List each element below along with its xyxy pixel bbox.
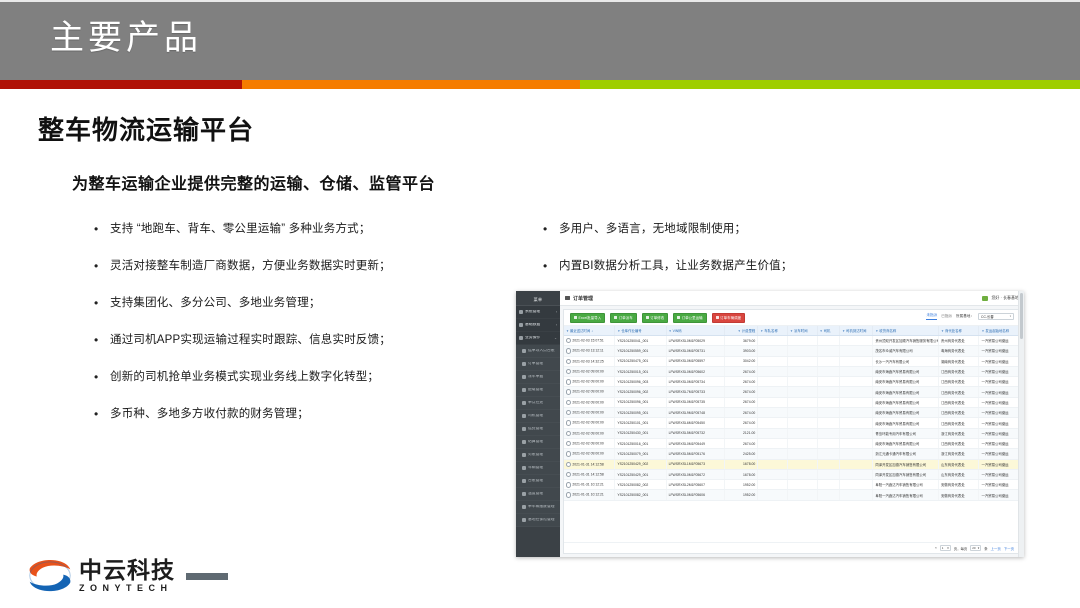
bullet-marker: • [94,333,110,348]
row-radio[interactable] [566,451,571,456]
cell-job: YS2101250082_002 [615,480,666,490]
cell-agent: 湖南商务代表处 [938,356,978,366]
cell-dispatch [787,490,817,500]
cell-arrive [840,469,873,479]
header-topline [0,0,1080,2]
chevron-down-icon: ▾ [978,546,980,550]
table-col-header-1[interactable]: ▼仓库作业编号 [615,326,666,336]
bullet-marker: • [94,222,110,237]
cell-agent: 山东商务代表处 [938,469,978,479]
filter-icon[interactable]: ▼ [875,329,878,333]
row-radio[interactable] [566,482,571,487]
sidebar-item-label: 订单管理 [528,362,557,366]
cell-time: 2021-01-31 14:12:58 [564,469,615,479]
page-size-value: 20 [972,546,975,550]
bullet-list-right: •多用户、多语言，无地域限制使用；•内置BI数据分析工具，让业务数据产生价值； [543,222,963,296]
cell-km: 1678.00 [725,469,758,479]
table-col-header-label: 司机到达时间 [846,329,866,333]
sidebar-item-1[interactable]: 基础数据‹ [516,319,560,332]
sidebar-item-label: 派车单据 [528,375,557,379]
cell-time: 2021-02-02 09:00:00 [564,408,615,418]
cell-dispatch [787,366,817,376]
sidebar-item-15[interactable]: 单车辆报废管理 [516,501,560,514]
cell-time: 2021-02-02 09:00:00 [564,377,615,387]
base-select-value: CC-长春 [981,314,994,319]
sidebar-item-label: 对账管理 [528,453,557,457]
table-body: 2021-02-03 15:07:51YS2101250041_001LFWSR… [564,336,1020,501]
sidebar-item-label: 配载管理 [528,388,557,392]
menu-icon [519,336,523,340]
cell-driver [817,480,839,490]
row-radio[interactable] [566,389,571,394]
cell-km: 1952.00 [725,490,758,500]
cell-time: 2021-02-02 09:00:00 [564,366,615,376]
cell-fleet [758,428,788,438]
bullet-marker: • [94,407,110,422]
table-row[interactable]: 2021-02-02 09:00:00YS2101250079_001LFWSR… [564,449,1020,459]
cell-vin[interactable]: LFWSRXSL2M1F05607 [666,480,724,490]
table-col-header-10[interactable]: ▼发运起始地名称 [979,326,1020,336]
cell-vin[interactable]: LFWSRXSL0M1F05597 [666,356,724,366]
cell-consignee: 南安市海鑫汽车贸易有限公司 [873,397,939,407]
cell-agent: 安徽商务代表处 [938,480,978,490]
table-row[interactable]: 2021-02-03 13:12:11YS2101250559_001LFWSR… [564,346,1020,356]
cell-fleet [758,459,788,469]
chevron-icon: ‹ [556,310,557,314]
table-col-header-label: 计费里程 [742,329,756,333]
cell-origin: 一汽贸易公司缴运 [979,428,1020,438]
sidebar-item-label: 温度管理 [528,492,557,496]
cell-agent: 江西商务代表处 [938,408,978,418]
zonytech-logo-icon [28,556,72,596]
cell-dispatch [787,469,817,479]
avatar [982,296,988,301]
cell-consignee: 贵州顶双开发区加顺汽车销售服务有限公司 [873,336,939,346]
cell-origin: 一汽贸易公司缴运 [979,336,1020,346]
sidebar-item-label: 系统管理 [525,310,554,314]
cell-consignee: 阜阳一汽鑫达汽车销售有限公司 [873,490,939,500]
cell-vin[interactable]: LFWSRXSL0M1F05602 [666,366,724,376]
tab-unassigned[interactable]: 未指派 [926,313,937,320]
table-col-header-4[interactable]: ▼车队名称 [758,326,788,336]
toolbar-button-4[interactable]: 订单车辆调度 [712,313,745,323]
menu-icon [522,505,526,509]
table-col-header-7[interactable]: ▼司机到达时间 [840,326,873,336]
user-menu-label: 您好 · 长春基地 [991,295,1019,301]
table-col-header-5[interactable]: ▼派车时间 [787,326,817,336]
cell-arrive [840,346,873,356]
table-row[interactable]: 2021-02-02 09:00:00YS2101250095_001LFWSR… [564,408,1020,418]
filter-icon[interactable]: ▼ [790,329,793,333]
cell-driver [817,408,839,418]
app-sidebar: 菜单 系统管理‹基础数据‹业务操作⌄运单导入点台账订单管理派车单据配载管理单点在… [516,291,560,557]
table-col-header-8[interactable]: ▼收货商名称 [873,326,939,336]
filter-icon[interactable]: ▼ [981,329,984,333]
cell-time: 2021-02-02 09:00:00 [564,418,615,428]
page-number-select[interactable]: 1 ▾ [940,545,951,551]
cell-km: 2674.00 [725,418,758,428]
cell-vin[interactable]: LFWSRXSL6M1F05450 [666,418,724,428]
table-col-header-label: 车队名称 [764,329,778,333]
bullet-item: •内置BI数据分析工具，让业务数据产生价值； [543,259,963,274]
table-col-header-3[interactable]: ▼计费里程 [725,326,758,336]
toolbar-button-label: 订单车辆调度 [720,315,741,320]
pagination: « 1 ▾ 页，每页 20 ▾ 条 上一页 下一页 [564,542,1020,553]
row-radio[interactable] [566,379,571,384]
cell-consignee: 南安市海鑫汽车贸易有限公司 [873,438,939,448]
sidebar-item-10[interactable]: 结算管理 [516,436,560,449]
toolbar-button-label: 订单修改 [650,315,664,320]
slide-header-band: 主要产品 [0,0,1080,80]
table-col-header-label: 收货商名称 [879,329,896,333]
menu-icon [522,401,526,405]
row-radio[interactable] [566,472,571,477]
table-row[interactable]: 2021-01-31 14:12:58YS2101250429_001LFWSR… [564,469,1020,479]
sidebar-item-0[interactable]: 系统管理‹ [516,306,560,319]
sidebar-item-label: 结算管理 [528,440,557,444]
table-row[interactable]: 2021-02-03 15:07:51YS2101250041_001LFWSR… [564,336,1020,346]
table-col-header-label: VIN码 [673,329,682,333]
cell-agent: 江西商务代表处 [938,418,978,428]
table-row[interactable]: 2021-02-03 14:32:25YS2101250475_001LFWSR… [564,356,1020,366]
menu-icon [522,375,526,379]
table-row[interactable]: 2021-02-02 09:00:00YS2101250430_001LFWSR… [564,428,1020,438]
cell-time: 2021-02-02 09:00:00 [564,397,615,407]
cell-job: YS2101250016_001 [615,438,666,448]
cell-driver [817,418,839,428]
table-row[interactable]: 2021-02-02 09:00:00YS2101250096_001LFWSR… [564,397,1020,407]
cell-dispatch [787,449,817,459]
table-col-header-6[interactable]: ▼司机 [817,326,839,336]
first-page-icon[interactable]: « [935,546,937,550]
table-row[interactable]: 2021-01-31 10:12:21YS2101250082_002LFWSR… [564,480,1020,490]
bullet-text: 通过司机APP实现运输过程实时跟踪、信息实时反馈； [110,333,524,347]
table-col-header-label: 商代处名称 [945,329,962,333]
sidebar-item-14[interactable]: 温度管理 [516,488,560,501]
cell-origin: 一汽贸易公司缴运 [979,366,1020,376]
cell-vin[interactable]: LFWSRXSL0M1F05029 [666,336,724,346]
cell-fleet [758,480,788,490]
bullet-text: 支持 “地跑车、背车、零公里运输” 多种业务方式； [110,222,524,236]
dispatch-icon [716,316,719,319]
cell-origin: 一汽贸易公司缴运 [979,346,1020,356]
page-size-label: 条 [984,546,987,551]
cell-job: YS2101250015_001 [615,366,666,376]
cell-vin[interactable]: LFWSRXSL5M1F05176 [666,449,724,459]
cell-driver [817,377,839,387]
cell-job: YS2101250041_001 [615,336,666,346]
cell-time: 2021-01-31 10:12:21 [564,480,615,490]
table-col-header-9[interactable]: ▼商代处名称 [938,326,978,336]
menu-icon [522,466,526,470]
filter-icon[interactable]: ▼ [760,329,763,333]
toolbar-button-3[interactable]: 订单公里运输 [673,313,706,323]
cell-consignee: 长沙一汽汽车有限公司 [873,356,939,366]
table-row[interactable]: 2021-02-02 09:00:00YS2101250101_001LFWSR… [564,418,1020,428]
cell-consignee: 浙江元通卡通汽车有限公司 [873,449,939,459]
table-row[interactable]: 2021-01-31 14:12:58YS2101250429_002LFWSR… [564,459,1020,469]
app-scrollbar[interactable] [1018,291,1024,557]
cell-agent: 江西商务代表处 [938,366,978,376]
cell-arrive [840,480,873,490]
cell-driver [817,438,839,448]
table-col-header-0[interactable]: ▼最近送达时间 ↓ [564,326,615,336]
bullet-marker: • [94,259,110,274]
cell-job: YS2101250096_002 [615,387,666,397]
cell-driver [817,459,839,469]
sidebar-item-12[interactable]: 车辆管理 [516,462,560,475]
toolbar-button-0[interactable]: Excel批量导入 [570,313,605,323]
sidebar-item-3[interactable]: 运单导入点台账 [516,345,560,358]
row-radio[interactable] [566,410,571,415]
scrollbar-thumb[interactable] [1020,293,1023,339]
cell-km: 2674.00 [725,366,758,376]
cell-dispatch [787,408,817,418]
stripe-segment-red [0,80,242,89]
cell-dispatch [787,428,817,438]
filter-icon[interactable]: ▼ [842,329,845,333]
cell-vin[interactable]: LFWSRXSL0M1F05731 [666,346,724,356]
cell-origin: 一汽贸易公司缴运 [979,377,1020,387]
row-radio[interactable] [566,369,571,374]
sidebar-item-2[interactable]: 业务操作⌄ [516,332,560,345]
cell-agent: 江西商务代表处 [938,387,978,397]
cell-time: 2021-02-02 09:00:00 [564,428,615,438]
user-menu[interactable]: 您好 · 长春基地 [982,295,1019,301]
row-radio[interactable] [566,338,571,343]
cell-arrive [840,490,873,500]
cell-vin[interactable]: LFWSRXSL0M1F05734 [666,377,724,387]
menu-icon [522,453,526,457]
cell-agent: 江西商务代表处 [938,377,978,387]
table-col-header-label: 派车时间 [794,329,808,333]
order-table: ▼最近送达时间 ↓▼仓库作业编号▼VIN码▼计费里程▼车队名称▼派车时间▼司机▼… [564,326,1020,501]
sidebar-item-16[interactable]: 基地在保险管理 [516,514,560,527]
cell-time: 2021-02-03 15:07:51 [564,336,615,346]
row-radio[interactable] [566,348,571,353]
table-row[interactable]: 2021-02-02 09:00:00YS2101250096_003LFWSR… [564,377,1020,387]
bullet-text: 内置BI数据分析工具，让业务数据产生价值； [559,259,963,273]
table-row[interactable]: 2021-02-02 09:00:00YS2101250015_001LFWSR… [564,366,1020,376]
menu-icon [519,323,523,327]
cell-job: YS2101250096_003 [615,377,666,387]
row-radio[interactable] [566,359,571,364]
cell-dispatch [787,397,817,407]
table-col-header-label: 仓库作业编号 [621,329,641,333]
cell-job: YS2101250079_001 [615,449,666,459]
cell-fleet [758,469,788,479]
menu-icon [522,479,526,483]
bullet-marker: • [94,370,110,385]
menu-icon [522,388,526,392]
cell-time: 2021-02-03 14:32:25 [564,356,615,366]
cell-job: YS2101250096_001 [615,397,666,407]
cell-arrive [840,366,873,376]
cell-agent: 江西商务代表处 [938,397,978,407]
cell-agent: 浙江商务代表处 [938,428,978,438]
cell-arrive [840,428,873,438]
sidebar-item-7[interactable]: 单点在途 [516,397,560,410]
row-radio[interactable] [566,400,571,405]
row-radio[interactable] [566,420,571,425]
cell-km: 1952.00 [725,480,758,490]
section-subtitle: 为整车运输企业提供完整的运输、仓储、监管平台 [72,170,435,194]
cell-fleet [758,377,788,387]
bullet-marker: • [543,259,559,274]
cell-arrive [840,377,873,387]
bullet-item: •通过司机APP实现运输过程实时跟踪、信息实时反馈； [94,333,524,348]
cell-job: YS2101250101_001 [615,418,666,428]
cell-origin: 一汽贸易公司缴运 [979,397,1020,407]
cell-job: YS2101250430_001 [615,428,666,438]
bullet-text: 多用户、多语言，无地域限制使用； [559,222,963,236]
filter-icon[interactable]: ▼ [738,329,741,333]
cell-agent: 安徽商务代表处 [938,490,978,500]
cell-dispatch [787,356,817,366]
cell-dispatch [787,377,817,387]
sidebar-item-label: 基地在保险管理 [528,518,557,522]
bullet-item: •创新的司机抢单业务模式实现业务线上数字化转型； [94,370,524,385]
cell-dispatch [787,387,817,397]
cell-job: YS2101250475_001 [615,356,666,366]
logo-text-en: ZONYTECH [79,584,175,593]
cell-km: 2674.00 [725,438,758,448]
cell-arrive [840,397,873,407]
table-col-header-2[interactable]: ▼VIN码 [666,326,724,336]
cell-vin[interactable]: LFWSRXSL0M1F05606 [666,490,724,500]
cell-arrive [840,336,873,346]
table-header-row: ▼最近送达时间 ↓▼仓库作业编号▼VIN码▼计费里程▼车队名称▼派车时间▼司机▼… [564,326,1020,336]
app-content-card: Excel批量导入订单派车订单修改订单公里运输订单车辆调度 未指派 已指派 所属… [563,309,1021,554]
table-row[interactable]: 2021-02-02 09:00:00YS2101250096_002LFWSR… [564,387,1020,397]
edit-icon [646,316,649,319]
filter-icon[interactable]: ▼ [669,329,672,333]
table-row[interactable]: 2021-01-31 10:12:21YS2101250082_001LFWSR… [564,490,1020,500]
cell-vin[interactable]: LFWSRXSL0M1F05735 [666,397,724,407]
row-radio[interactable] [566,441,571,446]
cell-job: YS2101250082_001 [615,490,666,500]
route-icon [677,316,680,319]
cell-job: YS2101250559_001 [615,346,666,356]
logo-divider-bar [186,573,228,580]
cell-dispatch [787,480,817,490]
app-page-title: 订单管理 [573,295,593,302]
table-col-header-label: 最近送达时间 ↓ [570,329,593,333]
cell-time: 2021-02-02 09:00:00 [564,449,615,459]
page-label: 页，每页 [954,546,968,551]
cell-agent: 贵州商务代表处 [938,336,978,346]
cell-driver [817,346,839,356]
filter-icon[interactable]: ▼ [820,329,823,333]
cell-consignee: 同泽开发区加德汽车销售有限公司 [873,469,939,479]
cell-vin[interactable]: LFWSRXSL5M1F05732 [666,428,724,438]
row-radio[interactable] [566,462,571,467]
cell-km: 2425.00 [725,449,758,459]
cell-fleet [758,336,788,346]
prev-page-button[interactable]: 上一页 [991,546,1001,551]
cell-vin[interactable]: LFWSRXSL0M1F05672 [666,469,724,479]
menu-icon [522,349,526,353]
filter-icon[interactable]: ▼ [566,329,569,333]
tab-assigned[interactable]: 已指派 [941,314,952,319]
cell-km: 1678.00 [725,459,758,469]
cell-consignee: 茂名市众诚汽车有限公司 [873,346,939,356]
footer-logo: 中云科技 ZONYTECH [28,556,228,596]
filter-icon[interactable]: ▼ [941,329,944,333]
cell-time: 2021-01-31 10:12:21 [564,490,615,500]
bullet-text: 支持集团化、多分公司、多地业务管理； [110,296,524,310]
table-row[interactable]: 2021-02-02 09:00:00YS2101250016_001LFWSR… [564,438,1020,448]
cell-origin: 一汽贸易公司缴运 [979,490,1020,500]
menu-icon [522,492,526,496]
next-page-button[interactable]: 下一页 [1004,546,1014,551]
cell-vin[interactable]: LFWSRXSL0M1F05449 [666,438,724,448]
toolbar-button-label: 订单公里运输 [682,315,703,320]
cell-consignee: 阜阳一汽鑫达汽车销售有限公司 [873,480,939,490]
toolbar-button-1[interactable]: 订单派车 [610,313,636,323]
chevron-down-icon: ▾ [1010,315,1011,318]
cell-consignee: 南安市海鑫汽车贸易有限公司 [873,408,939,418]
chevron-down-icon: ▾ [947,546,949,550]
cell-origin: 一汽贸易公司缴运 [979,418,1020,428]
cell-origin: 一汽贸易公司缴运 [979,449,1020,459]
sidebar-item-5[interactable]: 派车单据 [516,371,560,384]
cell-driver [817,356,839,366]
row-radio[interactable] [566,492,571,497]
cell-km: 3679.00 [725,336,758,346]
section-title: 整车物流运输平台 [38,110,254,147]
sidebar-item-8[interactable]: 司机管理 [516,410,560,423]
sidebar-item-11[interactable]: 对账管理 [516,449,560,462]
cell-vin[interactable]: LFWSRXSL9M1F05748 [666,408,724,418]
cell-time: 2021-02-02 09:00:00 [564,387,615,397]
cell-time: 2021-01-31 14:12:58 [564,459,615,469]
cell-arrive [840,438,873,448]
filter-icon[interactable]: ▼ [617,329,620,333]
bullet-item: •支持 “地跑车、背车、零公里运输” 多种业务方式； [94,222,524,237]
cell-consignee: 南安市海鑫汽车贸易有限公司 [873,387,939,397]
cell-driver [817,490,839,500]
cell-arrive [840,387,873,397]
cell-vin[interactable]: LFWSRXSL1M1F05673 [666,459,724,469]
cell-fleet [758,490,788,500]
page-number-value: 1 [942,546,944,550]
sidebar-item-6[interactable]: 配载管理 [516,384,560,397]
toolbar-button-2[interactable]: 订单修改 [642,313,668,323]
sidebar-item-label: 司机管理 [528,414,557,418]
base-select[interactable]: CC-长春 ▾ [978,313,1014,320]
cell-origin: 一汽贸易公司缴运 [979,408,1020,418]
cell-job: YS2101250429_002 [615,459,666,469]
cell-fleet [758,397,788,407]
cell-arrive [840,459,873,469]
sidebar-item-9[interactable]: 运费管理 [516,423,560,436]
cell-driver [817,397,839,407]
cell-vin[interactable]: LFWSRXSL7M1F05733 [666,387,724,397]
chevron-icon: ‹ [556,323,557,327]
page-size-select[interactable]: 20 ▾ [970,545,981,551]
sidebar-item-13[interactable]: 台账管理 [516,475,560,488]
header-accent-stripe [0,80,1080,89]
sidebar-item-4[interactable]: 订单管理 [516,358,560,371]
cell-km: 2674.00 [725,387,758,397]
cell-km: 3042.00 [725,356,758,366]
grid-icon [565,296,570,300]
row-radio[interactable] [566,431,571,436]
app-main-pane: 订单管理 您好 · 长春基地 Excel批量导入订单派车订单修改订单公里运输订单… [560,291,1024,557]
cell-origin: 一汽贸易公司缴运 [979,438,1020,448]
bullet-marker: • [543,222,559,237]
